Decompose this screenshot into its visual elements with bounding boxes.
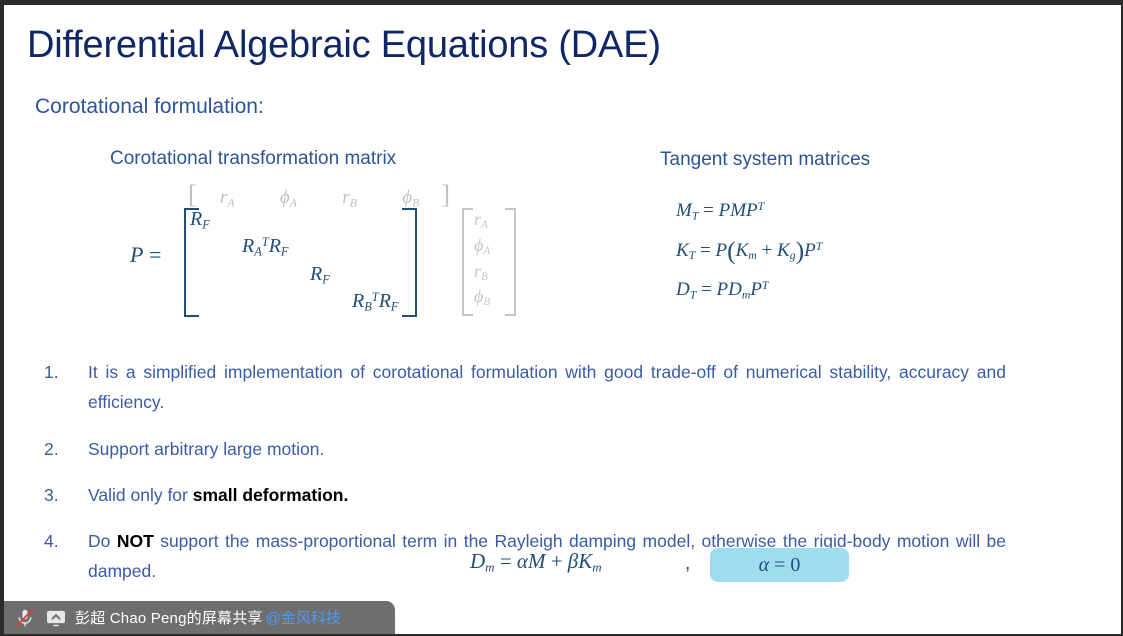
column-vector-rB: rB bbox=[474, 261, 488, 283]
section-heading-tangent-matrices: Tangent system matrices bbox=[660, 149, 870, 171]
screen-share-icon[interactable] bbox=[44, 607, 68, 629]
list-item-number: 2. bbox=[44, 434, 88, 464]
equation-comma: , bbox=[685, 553, 690, 575]
list-item-text: Support arbitrary large motion. bbox=[88, 434, 1006, 464]
tangent-system-equations: MT = PMPT KT = P(Km + Kg)PT DT = PDmPT bbox=[676, 200, 822, 316]
list-item-text-part: Support arbitrary large motion. bbox=[88, 439, 324, 459]
list-item: 2. Support arbitrary large motion. bbox=[44, 434, 1006, 464]
matrix-lhs: P = bbox=[130, 242, 161, 268]
alpha-highlight-box: α = 0 bbox=[710, 548, 849, 582]
window-frame-top bbox=[0, 0, 1123, 5]
list-item-text: It is a simplified implementation of cor… bbox=[88, 357, 1006, 418]
alpha-condition: α = 0 bbox=[759, 554, 801, 577]
column-vector-rA: rA bbox=[474, 209, 488, 231]
screen-share-bar[interactable]: 彭超 Chao Peng的屏幕共享 @金风科技 bbox=[4, 601, 395, 634]
list-item-text: Valid only for small deformation. bbox=[88, 480, 1006, 510]
column-vector-bracket-left bbox=[462, 208, 473, 316]
column-vector-bracket-right bbox=[505, 208, 516, 316]
share-organization-label: @金风科技 bbox=[266, 607, 341, 628]
equation-damping-matrix: DT = PDmPT bbox=[676, 279, 822, 302]
equation-mass-matrix: MT = PMPT bbox=[676, 200, 822, 223]
slide-title: Differential Algebraic Equations (DAE) bbox=[27, 24, 661, 67]
matrix-entry-2: RATRF bbox=[242, 235, 289, 260]
list-item-text-part: It is a simplified implementation of cor… bbox=[88, 362, 1006, 412]
microphone-muted-icon[interactable] bbox=[13, 607, 37, 629]
presentation-slide: Differential Algebraic Equations (DAE) C… bbox=[0, 0, 1123, 636]
list-item-number: 3. bbox=[44, 480, 88, 510]
matrix-column-labels: [ rA ϕA rB ϕB ] bbox=[188, 182, 450, 210]
column-labels-bracket-right: ] bbox=[441, 182, 450, 208]
list-item-text-emphasis: small deformation. bbox=[193, 485, 349, 505]
column-labels-bracket-left: [ bbox=[188, 182, 197, 208]
matrix-entry-4: RBTRF bbox=[352, 290, 399, 315]
damping-equation: Dm = αM + βKm bbox=[470, 549, 602, 576]
matrix-entry-1: RF bbox=[190, 208, 210, 232]
section-heading-corotational-matrix: Corotational transformation matrix bbox=[110, 148, 396, 170]
column-label-phiB: ϕB bbox=[380, 187, 441, 210]
matrix-bracket-right bbox=[402, 208, 417, 317]
window-frame-left bbox=[0, 5, 4, 636]
column-label-rA: rA bbox=[197, 187, 258, 210]
list-item-text-part: Valid only for bbox=[88, 485, 193, 505]
list-item-text-part: Do bbox=[88, 531, 117, 551]
list-item: 1. It is a simplified implementation of … bbox=[44, 357, 1006, 418]
share-presenter-label: 彭超 Chao Peng的屏幕共享 bbox=[75, 607, 263, 628]
column-vector-phiB: ϕB bbox=[474, 286, 490, 308]
slide-subtitle: Corotational formulation: bbox=[35, 95, 264, 119]
corotational-matrix-equation: [ rA ϕA rB ϕB ] P = RF RATRF RF RBTRF rA… bbox=[130, 182, 510, 337]
list-item: 3. Valid only for small deformation. bbox=[44, 480, 1006, 510]
list-item-number: 4. bbox=[44, 526, 88, 587]
column-label-phiA: ϕA bbox=[258, 187, 319, 210]
matrix-entry-3: RF bbox=[310, 263, 330, 287]
column-vector-phiA: ϕA bbox=[474, 235, 490, 257]
list-item-number: 1. bbox=[44, 357, 88, 418]
matrix-column-vector: rA ϕA rB ϕB bbox=[462, 208, 514, 316]
column-label-rB: rB bbox=[319, 187, 380, 210]
equation-stiffness-matrix: KT = P(Km + Kg)PT bbox=[676, 236, 822, 266]
list-item-text-emphasis: NOT bbox=[117, 531, 154, 551]
